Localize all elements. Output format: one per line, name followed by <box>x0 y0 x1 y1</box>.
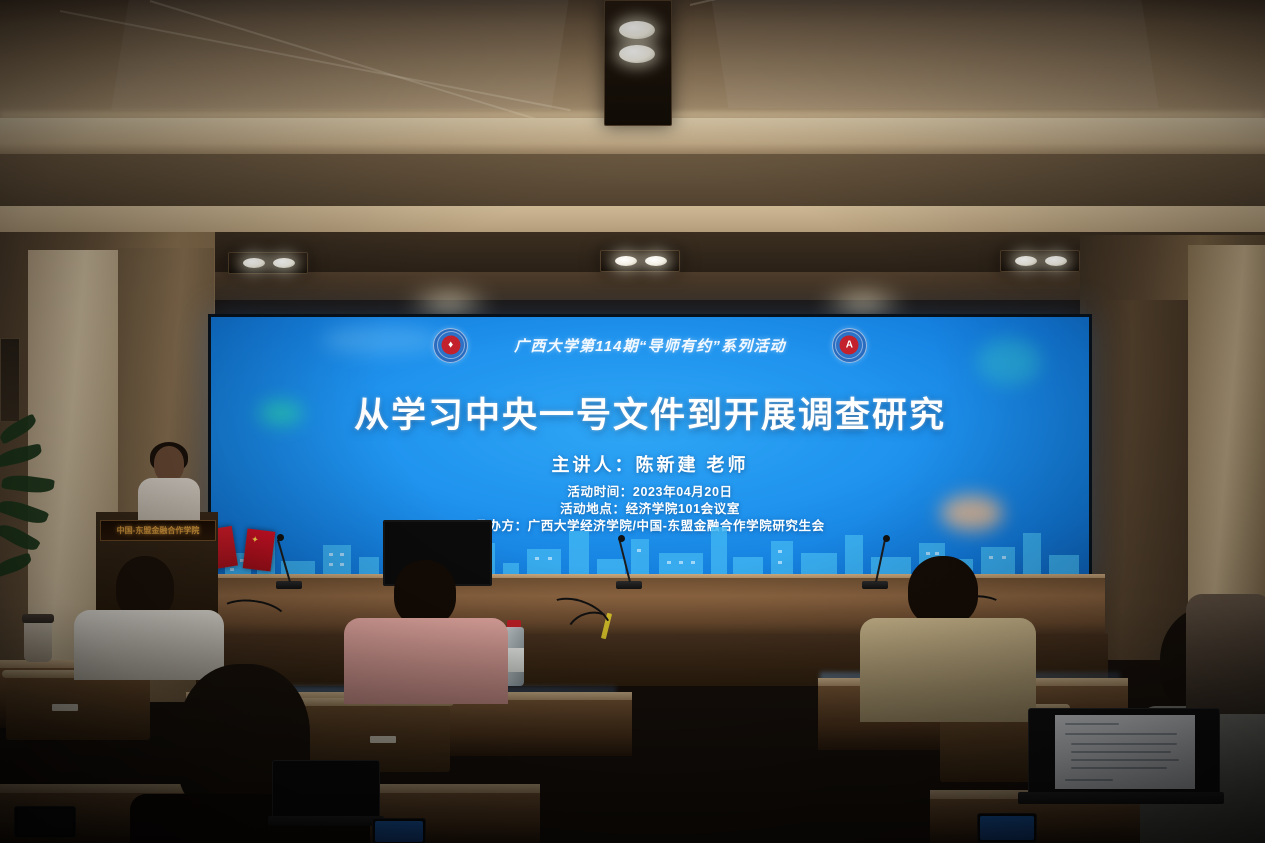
coffee-cup-lid <box>22 614 54 623</box>
slide-info-time: 活动时间：2023年04月20日 <box>211 484 1089 501</box>
ceiling-lamp-2 <box>619 45 655 63</box>
ceiling-lamp-right-2 <box>1045 256 1067 266</box>
emblem-right-glyph: A <box>840 336 859 355</box>
conference-room-scene: ♦ 广西大学第114期“导师有约”系列活动 A 从学习中央一号文件到开展调查研究… <box>0 0 1265 843</box>
phone-left-hand[interactable] <box>14 806 76 838</box>
attendee-far-right <box>1186 594 1265 714</box>
ceiling-lamp-center-2 <box>645 256 667 266</box>
ceiling-lamp-right <box>1015 256 1037 266</box>
ceiling-soffit-dark <box>0 154 1265 206</box>
attendee-white-shirt <box>64 556 224 676</box>
desk-microphone-2 <box>616 533 646 589</box>
chair-tag-2 <box>370 736 396 743</box>
laptop-right[interactable] <box>1018 708 1218 818</box>
slide-header-text: 广西大学第114期“导师有约”系列活动 <box>514 335 786 356</box>
podium-plaque-text: 中国-东盟金融合作学院 <box>117 525 200 536</box>
wall-frame-icon <box>0 338 20 422</box>
ceiling-lamp-left-2 <box>273 258 295 268</box>
led-presentation-screen: ♦ 广西大学第114期“导师有约”系列活动 A 从学习中央一号文件到开展调查研究… <box>208 314 1092 586</box>
ceiling-lamp-center <box>615 256 637 266</box>
podium-plaque: 中国-东盟金融合作学院 <box>100 520 216 541</box>
slide-header-row: ♦ 广西大学第114期“导师有约”系列活动 A <box>211 327 1089 363</box>
recessed-ceiling-light-housing-right <box>1000 250 1080 272</box>
ceiling-lamp-left <box>243 258 265 268</box>
phone-on-desk[interactable] <box>977 813 1037 843</box>
slide-speaker-line: 主讲人：陈新建 老师 <box>211 451 1089 477</box>
cpc-party-flag: ✦ <box>243 528 276 571</box>
chair-tag-1 <box>52 704 78 711</box>
attendee-beige-blazer <box>860 556 1040 716</box>
recessed-ceiling-light-housing <box>604 0 672 126</box>
phone-in-hand[interactable] <box>372 818 426 843</box>
ceiling-soffit-lower <box>0 206 1265 232</box>
slide-info-place: 活动地点：经济学院101会议室 <box>211 501 1089 518</box>
slide-title: 从学习中央一号文件到开展调查研究 <box>211 387 1089 438</box>
laptop-left[interactable] <box>272 760 382 830</box>
desk-microphone-1 <box>276 533 306 589</box>
recessed-ceiling-light-housing-center <box>600 250 680 272</box>
slide-surface: ♦ 广西大学第114期“导师有约”系列活动 A 从学习中央一号文件到开展调查研究… <box>211 317 1089 583</box>
ceiling-lamp-1 <box>619 21 655 39</box>
potted-plant <box>0 418 66 633</box>
recessed-ceiling-light-housing-left <box>228 252 308 274</box>
coffee-cup <box>24 620 52 662</box>
university-emblem-icon: ♦ <box>433 328 468 363</box>
institute-emblem-icon: A <box>832 328 867 363</box>
emblem-left-glyph: ♦ <box>441 336 460 355</box>
